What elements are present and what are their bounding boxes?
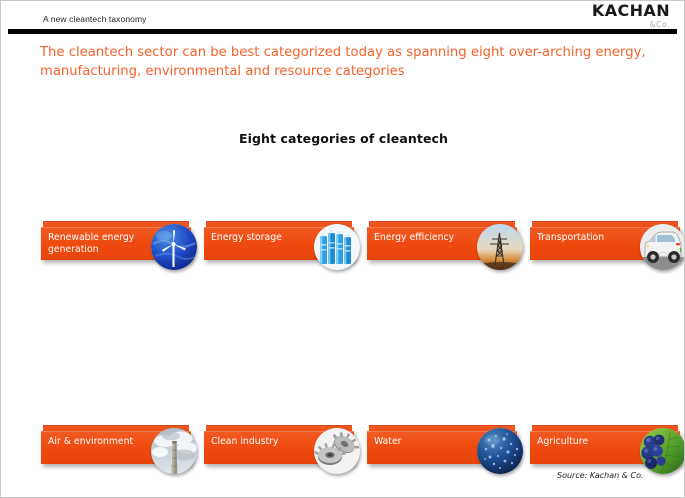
category-label: Renewable energy generation <box>48 232 156 255</box>
batteries-icon <box>314 224 360 270</box>
section-heading: Eight categories of cleantech <box>1 131 685 146</box>
category-label: Transportation <box>537 232 645 244</box>
category-card-renewable-energy-generation[interactable]: Renewable energy generation <box>41 221 197 261</box>
electric-car-icon <box>640 224 685 270</box>
category-label: Energy storage <box>211 232 319 244</box>
category-card-energy-storage[interactable]: Energy storage <box>204 221 360 261</box>
berries-leaf-icon <box>640 428 685 474</box>
category-label: Clean industry <box>211 436 319 448</box>
category-label: Water <box>374 436 482 448</box>
category-card-clean-industry[interactable]: Clean industry <box>204 425 360 465</box>
logo-wordmark: KACHAN <box>592 3 670 19</box>
page-title: The cleantech sector can be best categor… <box>40 43 655 81</box>
category-card-energy-efficiency[interactable]: Energy efficiency <box>367 221 523 261</box>
kachan-logo: KACHAN &Co. <box>592 3 670 29</box>
bevel-gears-icon <box>314 428 360 474</box>
category-card-water[interactable]: Water <box>367 425 523 465</box>
category-label: Agriculture <box>537 436 645 448</box>
category-card-transportation[interactable]: Transportation <box>530 221 685 261</box>
category-card-air-and-environment[interactable]: Air & environment <box>41 425 197 465</box>
header-divider-rule <box>8 29 677 34</box>
slide-canvas: A new cleantech taxonomy KACHAN &Co. The… <box>0 0 685 498</box>
category-label: Energy efficiency <box>374 232 482 244</box>
category-label: Air & environment <box>48 436 156 448</box>
logo-suffix: &Co. <box>592 21 670 29</box>
category-card-agriculture[interactable]: Agriculture <box>530 425 685 465</box>
header-kicker: A new cleantech taxonomy <box>43 14 147 24</box>
power-pylon-icon <box>477 224 523 270</box>
smokestack-icon <box>151 428 197 474</box>
source-note: Source: Kachan & Co. <box>557 471 644 480</box>
wind-turbine-globe-icon <box>151 224 197 270</box>
water-droplet-sphere-icon <box>477 428 523 474</box>
